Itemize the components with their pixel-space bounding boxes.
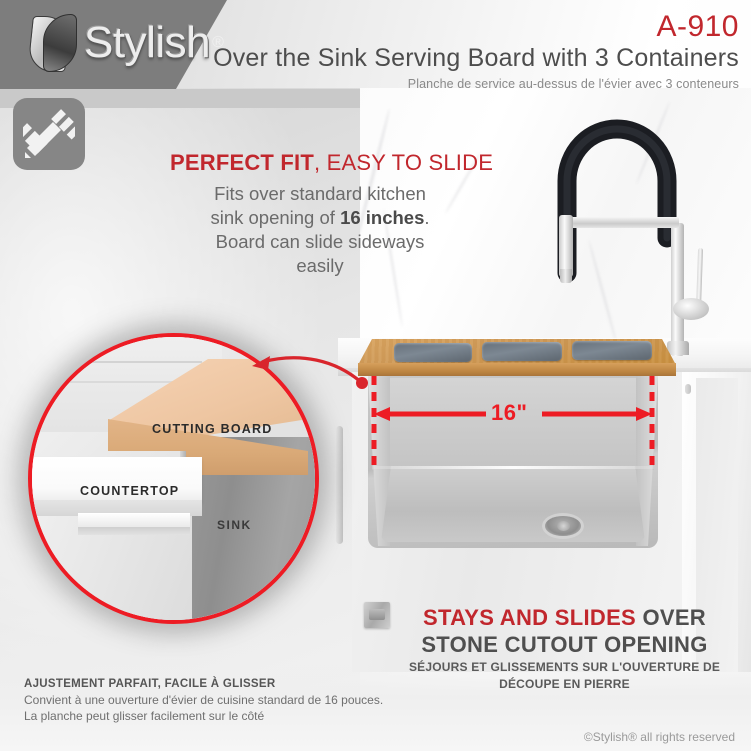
- headline-body-line4: easily: [170, 254, 470, 278]
- footer-fr-line2: La planche peut glisser facilement sur l…: [24, 708, 424, 724]
- brand-name: Stylish: [84, 18, 210, 68]
- sink-drain-center: [557, 521, 570, 531]
- caption-block: STAYS AND SLIDES OVER STONE CUTOUT OPENI…: [382, 604, 747, 692]
- headline-body-line1: Fits over standard kitchen: [170, 182, 470, 206]
- caption-line1: STAYS AND SLIDES OVER: [382, 604, 747, 631]
- caption-fr-line2: DÉCOUPE EN PIERRE: [382, 677, 747, 692]
- faucet-sprayer-tip: [560, 269, 572, 283]
- faucet-arm: [567, 217, 679, 228]
- product-infographic: 16" CUTTING BOARD COUNTERTOP SINK Stylis…: [0, 0, 751, 751]
- dimension-label: 16": [491, 400, 527, 426]
- callout-arrow: [240, 340, 380, 400]
- caption-fr-line1: SÉJOURS ET GLISSEMENTS SUR L'OUVERTURE D…: [382, 660, 747, 675]
- dimension-annotation: 16": [360, 374, 680, 474]
- product-title: Over the Sink Serving Board with 3 Conta…: [213, 42, 739, 75]
- footer-fr-title: AJUSTEMENT PARFAIT, FACILE À GLISSER: [24, 676, 424, 692]
- headline-light: EASY TO SLIDE: [320, 150, 493, 175]
- headline-title: PERFECT FIT, EASY TO SLIDE: [170, 150, 470, 176]
- container-1: [394, 343, 472, 362]
- headline-body-line2: sink opening of 16 inches.: [170, 206, 470, 230]
- caption-line1-red: STAYS AND SLIDES: [423, 605, 636, 630]
- cabinet-handle-right: [685, 384, 691, 394]
- cabinet-handle-left: [336, 426, 343, 544]
- headline-body-line3: Board can slide sideways: [170, 230, 470, 254]
- faucet-hub: [673, 298, 709, 320]
- copyright-text: ©Stylish® all rights reserved: [584, 730, 735, 744]
- header-text-block: A-910 Over the Sink Serving Board with 3…: [213, 12, 739, 93]
- brand-logo: Stylish ®: [26, 12, 224, 74]
- faucet: [545, 103, 715, 353]
- caption-line2: STONE CUTOUT OPENING: [382, 631, 747, 658]
- product-subtitle-fr: Planche de service au-dessus de l'évier …: [213, 75, 739, 93]
- headline-strong: PERFECT FIT: [170, 150, 314, 175]
- stylish-logo-icon: [26, 12, 82, 74]
- footer-fr-line1: Convient à une ouverture d'évier de cuis…: [24, 692, 424, 708]
- container-3: [572, 341, 652, 360]
- caption-line1-dark: OVER: [636, 605, 706, 630]
- tools-icon: [13, 98, 85, 170]
- model-number: A-910: [213, 12, 739, 42]
- label-countertop: COUNTERTOP: [80, 484, 179, 498]
- faucet-hose: [545, 103, 685, 318]
- label-cutting-board: CUTTING BOARD: [152, 422, 272, 436]
- sink-bottom: [381, 466, 645, 542]
- faucet-column: [671, 223, 684, 356]
- footer-french-block: AJUSTEMENT PARFAIT, FACILE À GLISSER Con…: [24, 676, 424, 724]
- headline-block: PERFECT FIT, EASY TO SLIDE Fits over sta…: [170, 150, 470, 278]
- label-sink: SINK: [217, 518, 252, 532]
- serving-board: [358, 339, 676, 375]
- faucet-sprayer: [559, 215, 573, 277]
- headline-body: Fits over standard kitchen sink opening …: [170, 182, 470, 278]
- container-2: [482, 342, 562, 361]
